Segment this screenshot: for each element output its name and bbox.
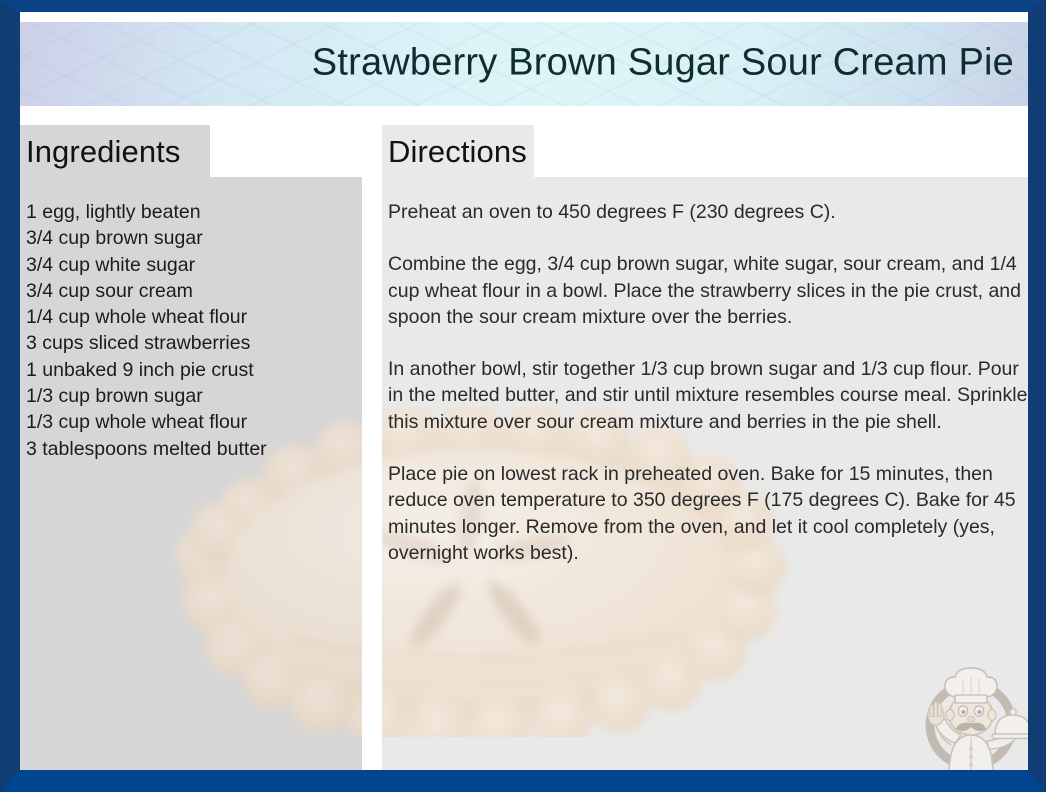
title-banner: Strawberry Brown Sugar Sour Cream Pie bbox=[20, 22, 1028, 106]
list-item: 1 egg, lightly beaten bbox=[26, 199, 362, 225]
direction-step: In another bowl, stir together 1/3 cup b… bbox=[388, 356, 1028, 435]
recipe-card: Strawberry Brown Sugar Sour Cream Pie bbox=[0, 0, 1046, 792]
list-item: 1 unbaked 9 inch pie crust bbox=[26, 357, 362, 383]
list-item: 1/3 cup brown sugar bbox=[26, 383, 362, 409]
recipe-card-inner: Strawberry Brown Sugar Sour Cream Pie bbox=[20, 12, 1028, 770]
list-item: 3/4 cup brown sugar bbox=[26, 225, 362, 251]
ingredients-heading: Ingredients bbox=[26, 136, 180, 167]
list-item: 3 tablespoons melted butter bbox=[26, 436, 362, 462]
list-item: 3/4 cup sour cream bbox=[26, 278, 362, 304]
panel-divider bbox=[362, 122, 382, 770]
directions-header-tab: Directions bbox=[382, 125, 534, 178]
list-item: 3/4 cup white sugar bbox=[26, 252, 362, 278]
directions-heading: Directions bbox=[388, 136, 527, 167]
page-title: Strawberry Brown Sugar Sour Cream Pie bbox=[312, 42, 1014, 85]
list-item: 1/3 cup whole wheat flour bbox=[26, 409, 362, 435]
list-item: 3 cups sliced strawberries bbox=[26, 330, 362, 356]
direction-step: Place pie on lowest rack in preheated ov… bbox=[388, 461, 1028, 566]
ingredients-header-tab: Ingredients bbox=[20, 125, 210, 178]
list-item: 1/4 cup whole wheat flour bbox=[26, 304, 362, 330]
direction-step: Combine the egg, 3/4 cup brown sugar, wh… bbox=[388, 251, 1028, 330]
ingredients-list: 1 egg, lightly beaten 3/4 cup brown suga… bbox=[26, 199, 362, 462]
direction-step: Preheat an oven to 450 degrees F (230 de… bbox=[388, 199, 1028, 225]
directions-body: Preheat an oven to 450 degrees F (230 de… bbox=[388, 199, 1028, 566]
